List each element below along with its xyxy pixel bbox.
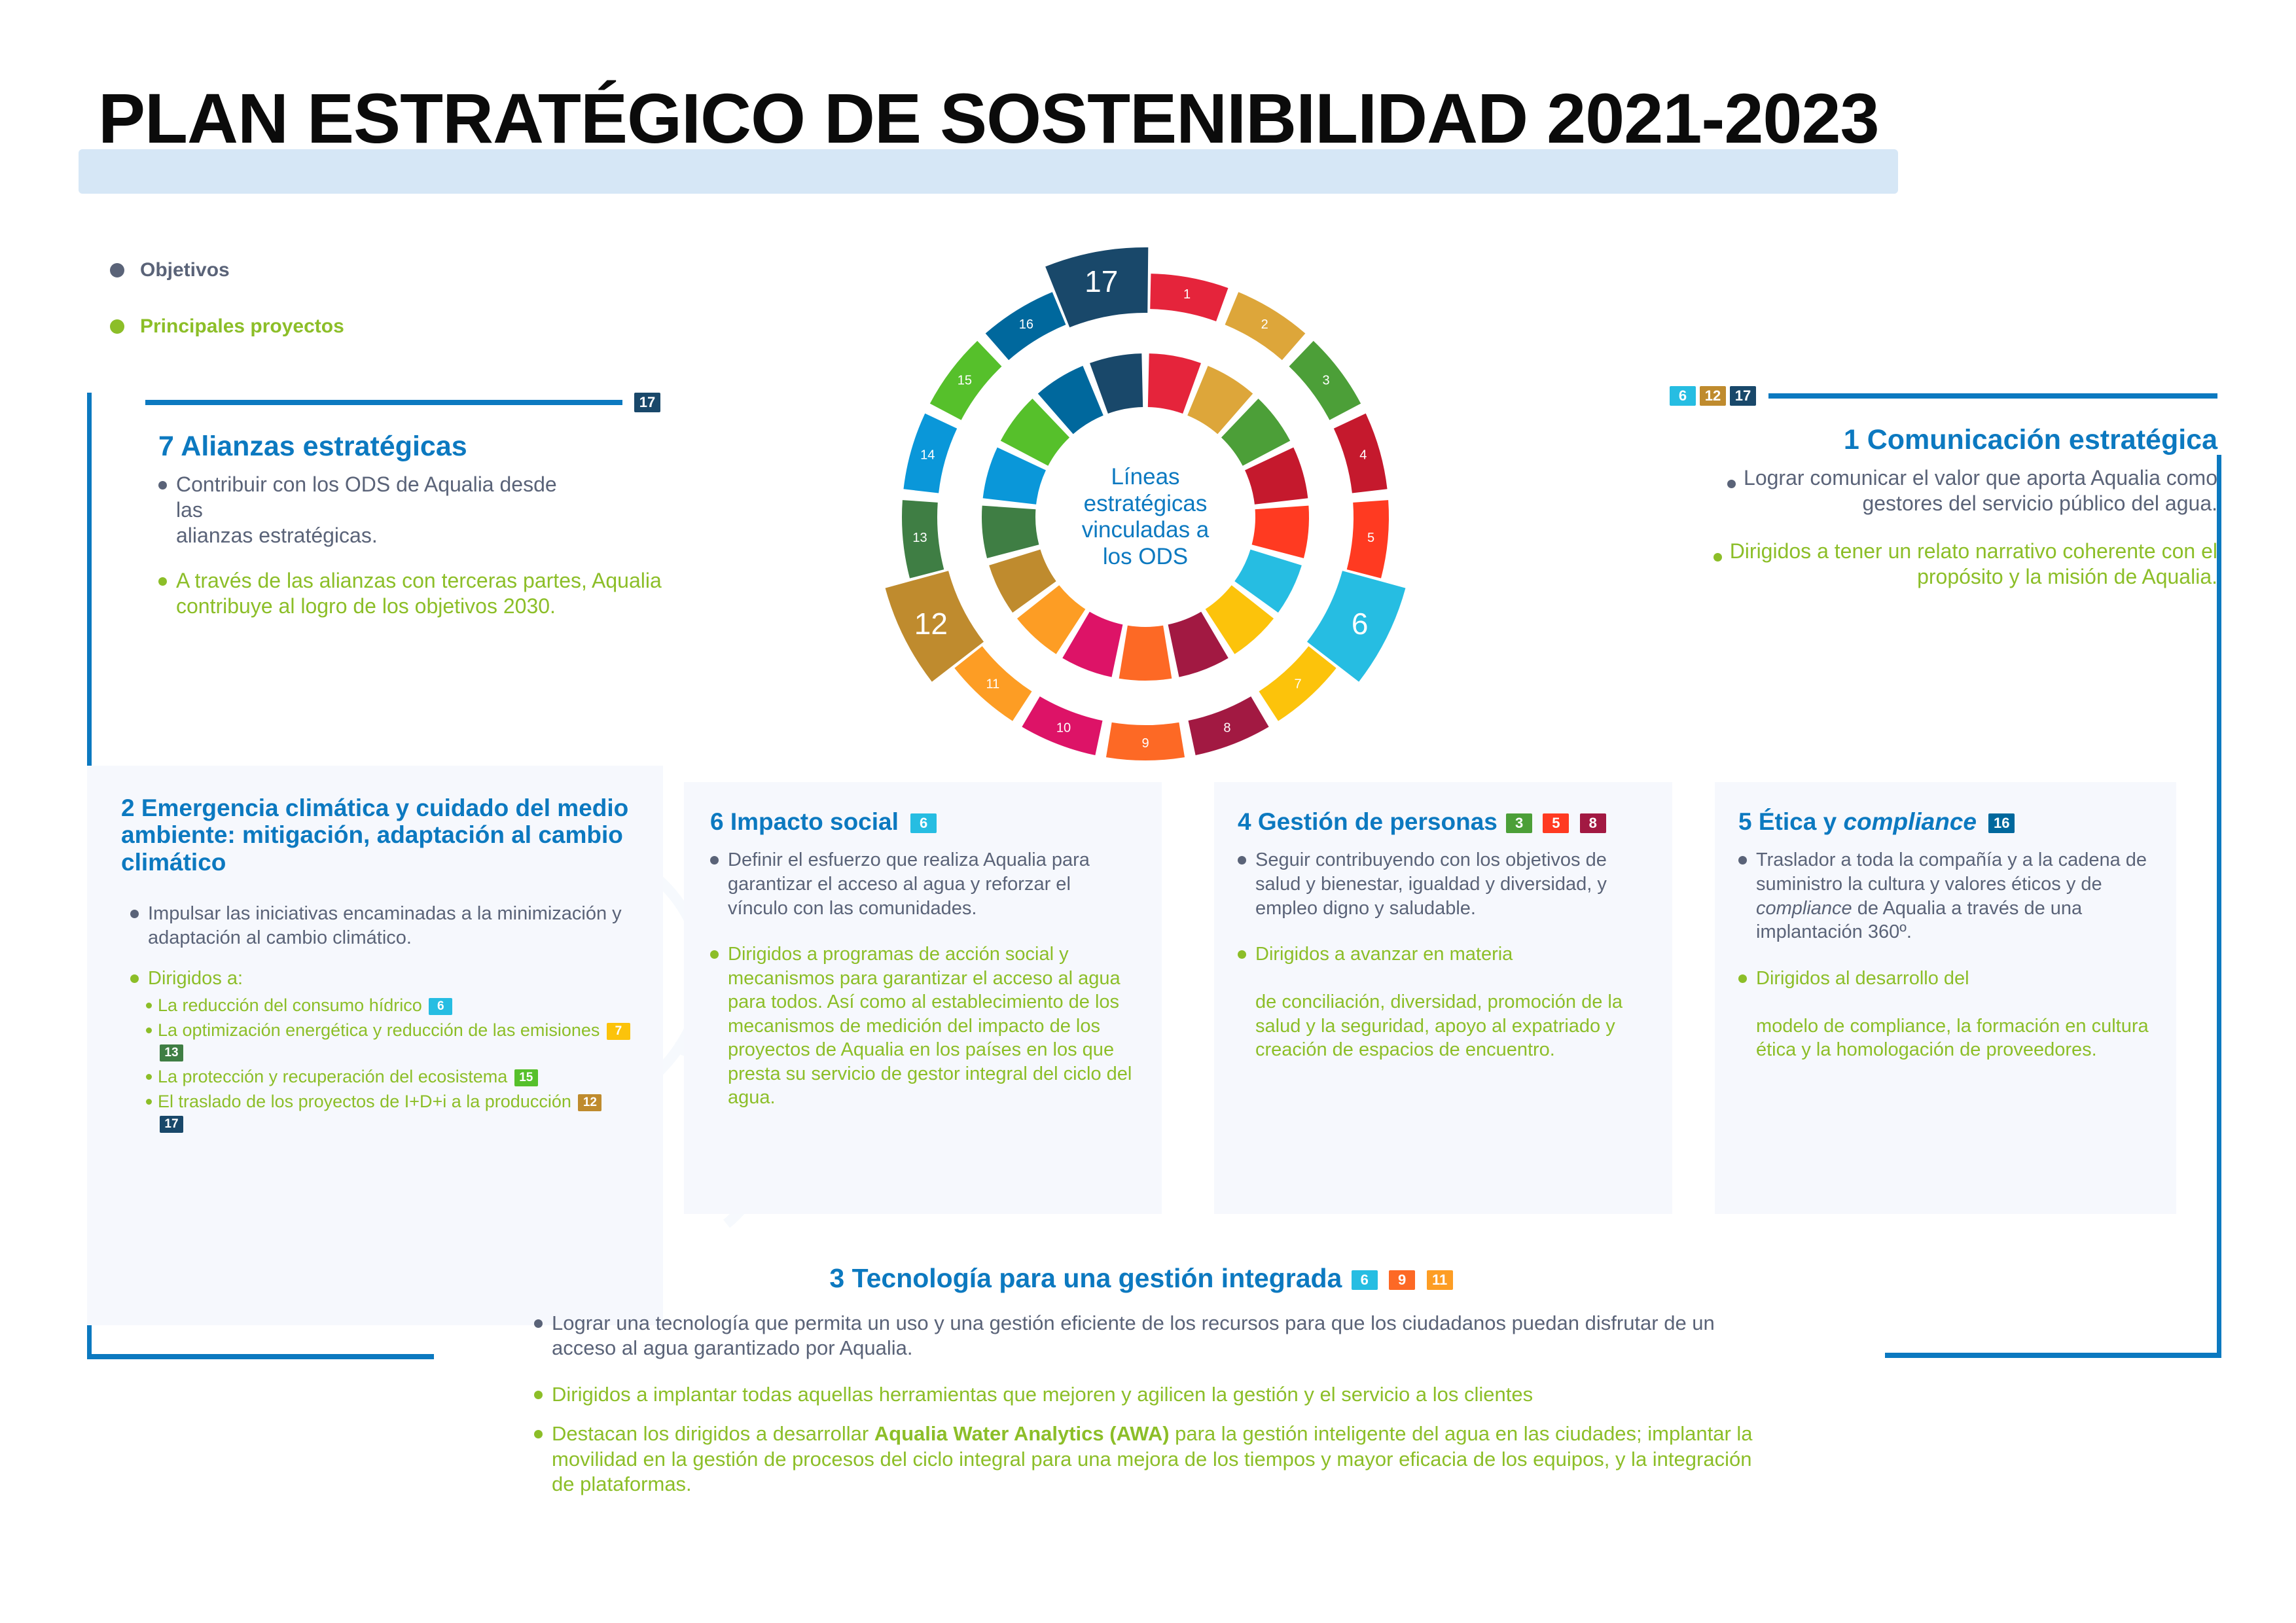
bullet-dot-icon xyxy=(1713,553,1722,562)
objective-bullet: Lograr una tecnología que permita un uso… xyxy=(534,1311,1774,1361)
frame-bottom-left-border xyxy=(87,1354,434,1359)
section-title-text: Emergencia climática y cuidado del medio… xyxy=(121,794,628,876)
section-title: 5 Ética y compliance 16 xyxy=(1738,808,2153,835)
legend-label: Principales proyectos xyxy=(140,315,344,338)
wheel-inner-segment-13 xyxy=(982,506,1039,558)
wheel-segment-label-16: 16 xyxy=(1019,317,1033,332)
frame-bottom-right-border xyxy=(1885,1353,2221,1358)
ods-badge-13: 13 xyxy=(160,1044,183,1061)
section-impacto-social: 6 Impacto social 6 Definir el esfuerzo q… xyxy=(684,782,1162,1214)
legend-label: Objetivos xyxy=(140,259,230,281)
wheel-segment-label-14: 14 xyxy=(920,448,935,462)
frame-right-border xyxy=(2217,455,2221,1357)
project-bullet: Dirigidos a tener un relato narrativo co… xyxy=(1668,539,2217,590)
infographic-page: PLAN ESTRATÉGICO DE SOSTENIBILIDAD 2021-… xyxy=(0,0,2296,1623)
project-intro-text: Dirigidos a: xyxy=(148,967,243,991)
project-text: A través de las alianzas con terceras pa… xyxy=(176,568,662,619)
section-rule-row: 17 xyxy=(145,393,662,412)
ods-badge-12: 12 xyxy=(1700,386,1726,406)
project-intro-bullet: Dirigidos a: xyxy=(121,967,634,991)
ods-badge-6: 6 xyxy=(1352,1270,1378,1290)
section-comunicacion-estrategica: 6 12 17 1 Comunicación estratégica Logra… xyxy=(1668,386,2217,590)
wheel-center-line: estratégicas xyxy=(1060,490,1230,517)
ods-badge-7: 7 xyxy=(607,1023,630,1040)
section-rule xyxy=(145,400,622,405)
bullet-dot-icon xyxy=(710,856,719,865)
wheel-segment-label-3: 3 xyxy=(1323,373,1330,387)
wheel-inner-segment-5 xyxy=(1252,506,1309,558)
bullet-dot-icon xyxy=(146,1074,152,1080)
wheel-center-label: Líneas estratégicas vinculadas a los ODS xyxy=(1060,464,1230,570)
ods-badge-9: 9 xyxy=(1389,1270,1415,1290)
wheel-segment-label-1: 1 xyxy=(1183,287,1191,302)
ods-badge-17: 17 xyxy=(1730,386,1756,406)
sub-item: La protección y recuperación del ecosist… xyxy=(146,1066,634,1087)
objective-text: Impulsar las iniciativas encaminadas a l… xyxy=(148,902,634,950)
objective-text: Lograr una tecnología que permita un uso… xyxy=(552,1311,1774,1361)
objective-text: Lograr comunicar el valor que aporta Aqu… xyxy=(1744,466,2217,515)
bullet-dot-icon xyxy=(1738,974,1747,983)
wheel-segment-label-9: 9 xyxy=(1141,736,1149,751)
section-title-prefix: 5 Ética y xyxy=(1738,808,1843,835)
sub-item-text: La optimización energética y reducción d… xyxy=(158,1020,634,1062)
bullet-dot-icon xyxy=(1727,480,1736,488)
section-etica-y-compliance: 5 Ética y compliance 16 Traslador a toda… xyxy=(1715,782,2176,1214)
bullet-dot-icon xyxy=(1238,950,1246,959)
ods-badge-17: 17 xyxy=(634,393,660,412)
bullet-dot-icon xyxy=(130,974,139,983)
bullet-dot-icon xyxy=(1238,856,1246,865)
project-bullet: Dirigidos a avanzar en materiade concili… xyxy=(1238,942,1649,1062)
project-text: Dirigidos a implantar todas aquellas her… xyxy=(552,1382,1533,1407)
section-alianzas-estrategicas: 17 7 Alianzas estratégicas Contribuir co… xyxy=(145,393,662,619)
project-bullet-1: Dirigidos a implantar todas aquellas her… xyxy=(534,1382,1774,1407)
ods-badge-12: 12 xyxy=(578,1094,601,1111)
sub-item: El traslado de los proyectos de I+D+i a … xyxy=(146,1091,634,1133)
wheel-center-line: vinculadas a xyxy=(1060,517,1230,544)
objective-bullet: Impulsar las iniciativas encaminadas a l… xyxy=(121,902,634,950)
bullet-dot-icon xyxy=(146,1099,152,1105)
section-title: 7 Alianzas estratégicas xyxy=(158,431,662,463)
bullet-dot-icon xyxy=(158,577,167,586)
project-bullet: Dirigidos a programas de acción social y… xyxy=(710,942,1136,1110)
section-gestion-de-personas: 4 Gestión de personas 3 5 8 Seguir contr… xyxy=(1214,782,1672,1214)
ods-badge-6: 6 xyxy=(1670,386,1696,406)
wheel-segment-label-12: 12 xyxy=(914,607,948,641)
ods-badge-5: 5 xyxy=(1543,813,1569,833)
ods-wheel-diagram: 1234567891011121314151617 Líneas estraté… xyxy=(844,216,1446,818)
wheel-segment-label-7: 7 xyxy=(1295,677,1302,692)
legend-dot-icon xyxy=(110,319,124,334)
section-title-text: 3 Tecnología para una gestión integrada xyxy=(829,1263,1342,1293)
wheel-segment-label-17: 17 xyxy=(1085,264,1118,298)
bullet-dot-icon xyxy=(534,1430,543,1438)
sub-item: La optimización energética y reducción d… xyxy=(146,1020,634,1062)
wheel-segment-label-8: 8 xyxy=(1223,721,1230,736)
wheel-segment-label-5: 5 xyxy=(1367,531,1374,545)
project-text: Dirigidos a avanzar en materiade concili… xyxy=(1255,942,1649,1062)
section-number: 2 xyxy=(121,794,135,821)
bullet-dot-icon xyxy=(130,910,139,918)
section-rule-row: 6 12 17 xyxy=(1668,386,2217,406)
ods-badge-6: 6 xyxy=(429,998,452,1015)
sub-item-text: La reducción del consumo hídrico 6 xyxy=(158,995,454,1016)
wheel-segment-label-10: 10 xyxy=(1056,721,1071,736)
ods-badge-16: 16 xyxy=(1988,813,2015,833)
bullet-dot-icon xyxy=(534,1391,543,1399)
project-bullet: Dirigidos al desarrollo delmodelo de com… xyxy=(1738,967,2153,1062)
section-rule xyxy=(1768,393,2217,399)
ods-badge-17: 17 xyxy=(160,1116,183,1133)
project-text: Dirigidos a tener un relato narrativo co… xyxy=(1730,539,2217,588)
project-text: Dirigidos a programas de acción social y… xyxy=(728,942,1136,1110)
section-tecnologia-gestion-integrada: 3 Tecnología para una gestión integrada … xyxy=(511,1263,1774,1497)
objective-text: Contribuir con los ODS de Aqualia desdel… xyxy=(176,472,557,548)
ods-badge-11: 11 xyxy=(1427,1270,1453,1290)
legend-item-objetivos: Objetivos xyxy=(110,259,344,281)
legend: Objetivos Principales proyectos xyxy=(110,259,344,372)
ods-badge-3: 3 xyxy=(1506,813,1532,833)
wheel-center-line: los ODS xyxy=(1060,544,1230,571)
bullet-dot-icon xyxy=(534,1319,543,1328)
ods-badge-15: 15 xyxy=(514,1069,538,1086)
sub-item-text: La protección y recuperación del ecosist… xyxy=(158,1066,540,1087)
wheel-segment-label-13: 13 xyxy=(912,531,927,545)
objective-text: Definir el esfuerzo que realiza Aqualia … xyxy=(728,848,1136,920)
bullet-dot-icon xyxy=(146,1027,152,1033)
sub-item-text: El traslado de los proyectos de I+D+i a … xyxy=(158,1091,634,1133)
wheel-segment-label-4: 4 xyxy=(1359,448,1367,462)
wheel-segment-label-15: 15 xyxy=(958,373,972,387)
section-title: 1 Comunicación estratégica xyxy=(1668,424,2217,456)
objective-text: Seguir contribuyendo con los objetivos d… xyxy=(1255,848,1649,920)
project-text: Destacan los dirigidos a desarrollar Aqu… xyxy=(552,1421,1774,1497)
sub-item: La reducción del consumo hídrico 6 xyxy=(146,995,634,1016)
objective-bullet: Definir el esfuerzo que realiza Aqualia … xyxy=(710,848,1136,920)
wheel-inner-segment-9 xyxy=(1119,626,1172,681)
ods-badge-8: 8 xyxy=(1580,813,1606,833)
objective-bullet: Traslador a toda la compañía y a la cade… xyxy=(1738,848,2153,944)
bullet-dot-icon xyxy=(158,481,167,490)
wheel-segment-label-11: 11 xyxy=(986,677,1000,692)
page-title: PLAN ESTRATÉGICO DE SOSTENIBILIDAD 2021-… xyxy=(98,77,1879,159)
legend-item-principales-proyectos: Principales proyectos xyxy=(110,315,344,338)
wheel-segment-label-2: 2 xyxy=(1261,317,1268,332)
wheel-segment-label-6: 6 xyxy=(1352,607,1369,641)
section-title: 3 Tecnología para una gestión integrada … xyxy=(511,1263,1774,1294)
objective-bullet: Seguir contribuyendo con los objetivos d… xyxy=(1238,848,1649,920)
bullet-dot-icon xyxy=(1738,856,1747,865)
project-text: Dirigidos al desarrollo delmodelo de com… xyxy=(1756,967,2153,1062)
section-emergencia-climatica: 2 Emergencia climática y cuidado del med… xyxy=(87,766,663,1325)
objective-text: Traslador a toda la compañía y a la cade… xyxy=(1756,848,2153,944)
bullet-dot-icon xyxy=(146,1003,152,1008)
bullet-dot-icon xyxy=(710,950,719,959)
objective-bullet: Lograr comunicar el valor que aporta Aqu… xyxy=(1668,465,2217,516)
project-bullet: A través de las alianzas con terceras pa… xyxy=(158,568,662,619)
legend-dot-icon xyxy=(110,263,124,277)
section-title-italic: compliance xyxy=(1843,808,1977,835)
wheel-center-line: Líneas xyxy=(1060,464,1230,491)
project-bullet-2: Destacan los dirigidos a desarrollar Aqu… xyxy=(534,1421,1774,1497)
section-title: 2 Emergencia climática y cuidado del med… xyxy=(121,794,634,876)
objective-bullet: Contribuir con los ODS de Aqualia desdel… xyxy=(158,472,662,548)
